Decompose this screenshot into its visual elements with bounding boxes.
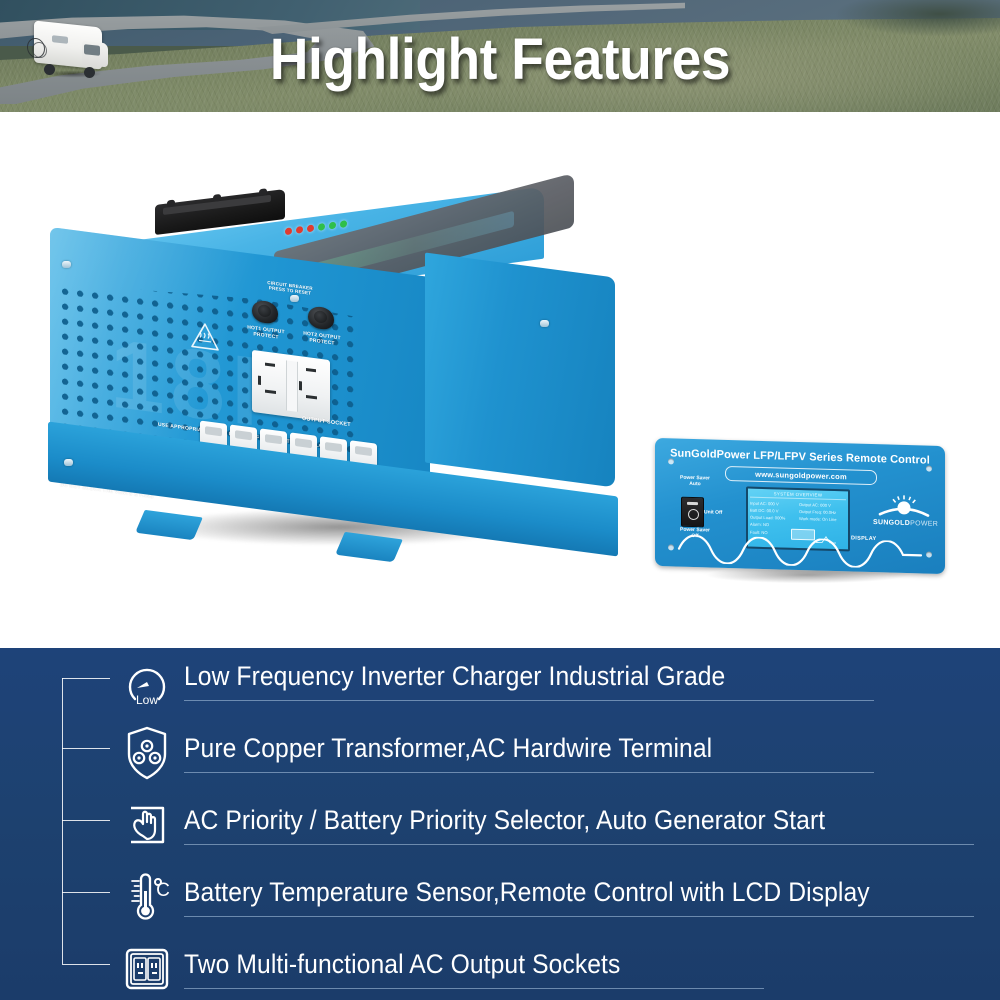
feature-label-4: Battery Temperature Sensor,Remote Contro… <box>184 877 924 908</box>
led-indicator <box>296 226 303 234</box>
dc-bolt-right <box>259 188 267 196</box>
feature-label-1: Low Frequency Inverter Charger Industria… <box>184 661 924 692</box>
feature-label-3: AC Priority / Battery Priority Selector,… <box>184 805 924 836</box>
pure-sine-wave-graphic <box>677 535 923 570</box>
feature-row-temperature-sensor[interactable]: C Battery Temperature Sensor,Remote Cont… <box>110 866 980 928</box>
low-frequency-gauge-icon: Low <box>110 652 184 710</box>
bracket-arm-4 <box>62 892 110 893</box>
feature-text-wrap-5: Two Multi-functional AC Output Sockets <box>184 940 980 998</box>
mount-hole-bl <box>668 544 674 550</box>
feature-text-wrap-1: Low Frequency Inverter Charger Industria… <box>184 652 980 710</box>
bracket-arm-2 <box>62 748 110 749</box>
header-banner: Highlight Features <box>0 0 1000 112</box>
socket-left[interactable] <box>257 356 284 412</box>
logo-brand-light: POWER <box>910 520 938 528</box>
feature-rule-2 <box>184 772 874 773</box>
feature-row-priority-selector[interactable]: AC Priority / Battery Priority Selector,… <box>110 794 980 856</box>
page-title: Highlight Features <box>40 26 960 93</box>
power-saver-switch-group[interactable]: Power Saver Auto Unit Off Power Saver Of… <box>675 487 715 534</box>
gfci-reset-strip[interactable] <box>286 360 298 412</box>
bracket-arm-1 <box>62 678 110 679</box>
lcd-title: SYSTEM OVERVIEW <box>750 491 846 501</box>
lcd-readout-line: Work mode: On Line <box>799 515 846 523</box>
touch-select-hand-icon <box>110 796 184 854</box>
bracket-spine <box>62 678 63 964</box>
mount-hole-br <box>926 552 932 558</box>
lcd-readout-line: Fault: NO <box>750 528 797 536</box>
feature-label-5: Two Multi-functional AC Output Sockets <box>184 949 924 980</box>
case-screw-1 <box>62 261 71 268</box>
led-indicator <box>307 224 314 232</box>
feature-list-panel: Low Low Frequency Inverter Charger Indus… <box>0 648 1000 1000</box>
feature-row-copper-transformer[interactable]: Pure Copper Transformer,AC Hardwire Term… <box>110 722 980 784</box>
feature-text-wrap-2: Pure Copper Transformer,AC Hardwire Term… <box>184 724 980 782</box>
feature-text-wrap-4: Battery Temperature Sensor,Remote Contro… <box>184 868 980 926</box>
svg-text:Low: Low <box>136 693 158 707</box>
feature-rule-5 <box>184 988 764 989</box>
feature-text-wrap-3: AC Priority / Battery Priority Selector,… <box>184 796 980 854</box>
thermometer-celsius-icon: C <box>110 868 184 926</box>
remote-control-image: SunGoldPower LFP/LFPV Series Remote Cont… <box>655 442 955 587</box>
feature-label-2: Pure Copper Transformer,AC Hardwire Term… <box>184 733 924 764</box>
remote-faceplate: SunGoldPower LFP/LFPV Series Remote Cont… <box>655 438 945 574</box>
unit-off-label: Unit Off <box>704 509 722 516</box>
bracket-arm-3 <box>62 820 110 821</box>
feature-rule-1 <box>184 700 874 701</box>
led-indicator <box>329 222 336 230</box>
power-saver-rocker-switch[interactable] <box>681 497 704 528</box>
dc-bolt-left <box>167 200 175 208</box>
led-indicator <box>318 223 325 231</box>
inverter-product-image: 18P CIRCUIT BREAKER PRESS TO RESET HOT1 … <box>40 197 620 597</box>
feature-rule-4 <box>184 916 974 917</box>
lcd-left-column: Input AC: 000 VBatt DC: 00.0 VOutput Loa… <box>750 500 797 537</box>
feature-rule-3 <box>184 844 974 845</box>
inverter-right-face <box>425 252 615 487</box>
copper-transformer-shield-icon <box>110 724 184 782</box>
power-saver-auto-label: Power Saver Auto <box>669 474 721 488</box>
sungold-power-logo: SUNGOLDPOWER <box>873 494 935 536</box>
logo-brand-bold: SUNGOLD <box>873 519 910 527</box>
case-screw-2 <box>290 295 299 302</box>
feature-row-low-frequency[interactable]: Low Low Frequency Inverter Charger Indus… <box>110 650 980 712</box>
product-feature-page: Highlight Features 18P <box>0 0 1000 1000</box>
led-indicator <box>340 220 347 228</box>
case-screw-3 <box>540 320 549 327</box>
feature-row-ac-sockets[interactable]: Two Multi-functional AC Output Sockets <box>110 938 980 1000</box>
dual-ac-socket-icon <box>110 940 184 998</box>
led-indicator <box>285 227 292 235</box>
hot-surface-warning-icon <box>190 320 218 348</box>
remote-title: SunGoldPower LFP/LFPV Series Remote Cont… <box>655 447 945 467</box>
case-screw-4 <box>64 459 73 466</box>
logo-wordmark: SUNGOLDPOWER <box>873 519 935 528</box>
remote-website-url: www.sungoldpower.com <box>725 466 877 485</box>
socket-right[interactable] <box>298 361 325 417</box>
product-photo-area: 18P CIRCUIT BREAKER PRESS TO RESET HOT1 … <box>0 112 1000 648</box>
bracket-arm-5 <box>62 964 110 965</box>
svg-text:C: C <box>156 880 170 901</box>
ac-output-socket[interactable] <box>252 350 330 422</box>
dc-bolt-mid <box>213 194 221 202</box>
